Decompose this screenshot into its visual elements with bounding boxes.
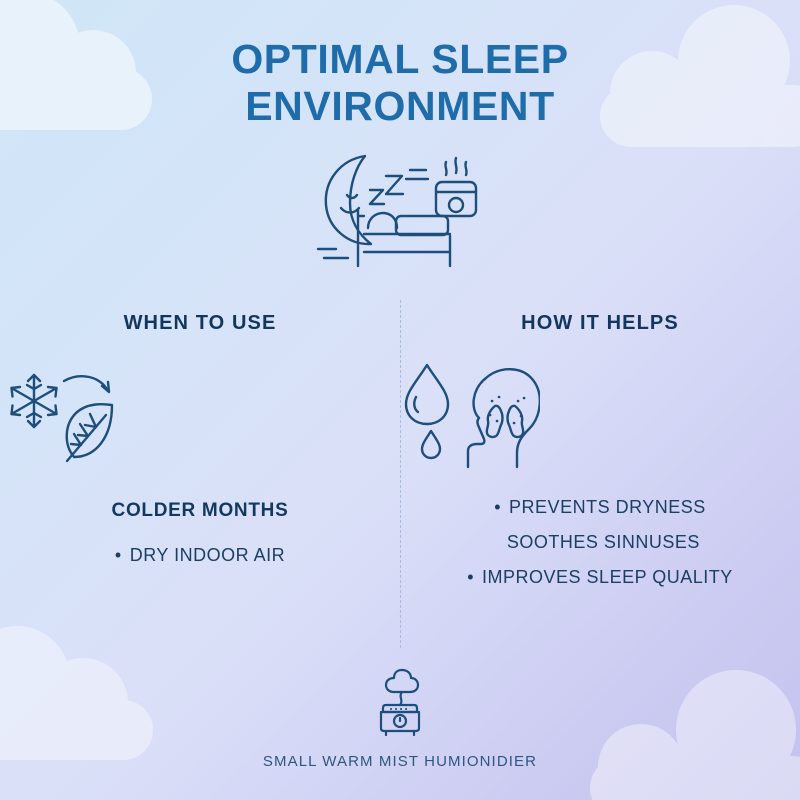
page-title-line-1: OPTIMAL SLEEP <box>0 36 800 83</box>
points-list-how-it-helps: •PREVENTS DRYNESS •SOOTHES SINNUSES •IMP… <box>400 490 800 595</box>
bullet-icon: • <box>115 545 122 565</box>
list-item-label: IMPROVES SLEEP QUALITY <box>482 567 733 587</box>
snowflake-arrow-leaf-icon <box>0 359 400 474</box>
list-item: •DRY INDOOR AIR <box>0 538 400 573</box>
bullet-icon: • <box>467 567 474 587</box>
footer-caption: SMALL WARM MIST HUMIONIDIER <box>0 753 800 770</box>
bullet-icon: • <box>494 497 501 517</box>
water-drop-sinus-head-icon <box>400 359 800 474</box>
list-item-label: SOOTHES SINNUSES <box>507 532 700 552</box>
points-list-when-to-use: •DRY INDOOR AIR <box>0 538 400 573</box>
humidifier-mist-icon <box>364 662 436 736</box>
infographic-poster: OPTIMAL SLEEP ENVIRONMENT <box>0 0 800 800</box>
page-title-line-2: ENVIRONMENT <box>0 83 800 130</box>
column-heading-when-to-use: WHEN TO USE <box>0 312 400 335</box>
column-heading-how-it-helps: HOW IT HELPS <box>400 312 800 335</box>
list-item-label: PREVENTS DRYNESS <box>509 497 706 517</box>
page-title: OPTIMAL SLEEP ENVIRONMENT <box>0 36 800 129</box>
column-how-it-helps: HOW IT HELPS <box>400 312 800 595</box>
list-item: •SOOTHES SINNUSES <box>400 525 800 560</box>
column-when-to-use: WHEN TO USE <box>0 312 400 573</box>
list-item: •PREVENTS DRYNESS <box>400 490 800 525</box>
list-item-label: DRY INDOOR AIR <box>130 545 285 565</box>
subheading-colder-months: COLDER MONTHS <box>0 500 400 522</box>
list-item: •IMPROVES SLEEP QUALITY <box>400 560 800 595</box>
moon-sleeping-person-humidifier-icon <box>310 148 490 273</box>
